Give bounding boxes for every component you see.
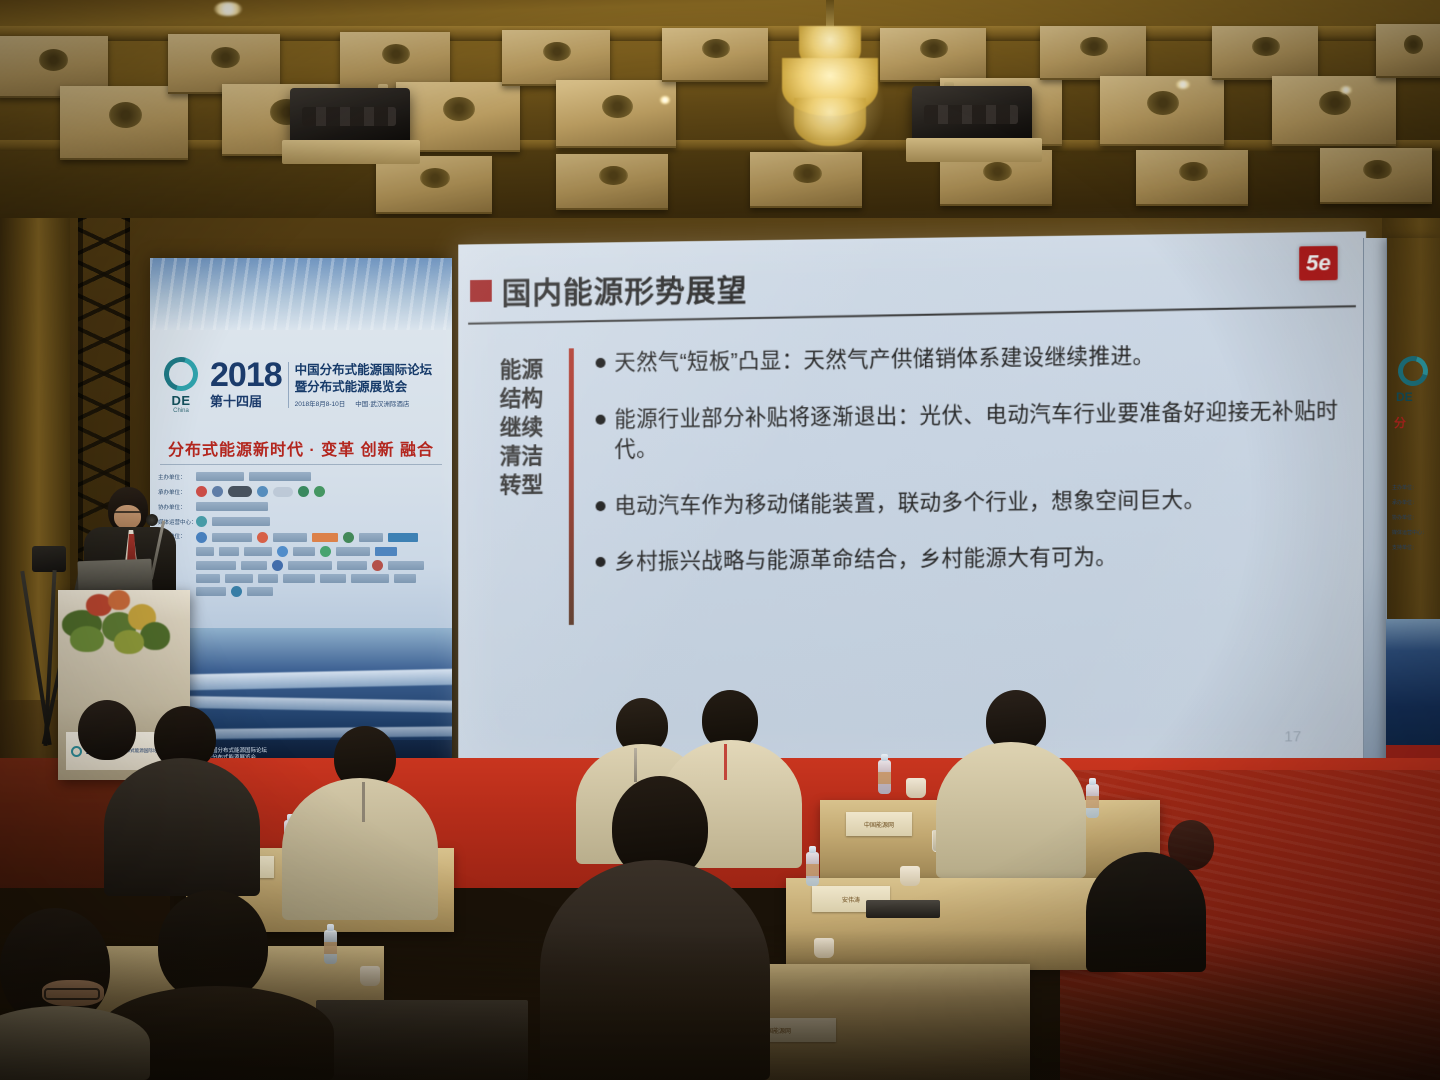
water-bottle: [324, 930, 337, 964]
ring-icon: [158, 351, 204, 397]
glasses-icon: [44, 988, 100, 1000]
side-label-line: 结构: [500, 383, 569, 413]
slide-vertical-divider: [569, 348, 574, 625]
sponsor-row: 支持单位：: [158, 532, 444, 597]
cup: [360, 966, 380, 986]
bullet-text: 电动汽车作为移动储能装置，联动多个行业，想象空间巨大。: [614, 484, 1205, 521]
attendee-body: [540, 860, 770, 1080]
bullet-dot-icon: [596, 358, 606, 368]
lanyard: [724, 744, 727, 780]
slide-page-number: 17: [1284, 728, 1301, 745]
slide-bullet-item: 电动汽车作为移动储能装置，联动多个行业，想象空间巨大。: [596, 483, 1340, 521]
side-label-line: 继续: [500, 412, 569, 442]
banner-footer-line1: 中国分布式能源国际论坛: [206, 748, 267, 755]
slide-bullet-item: 能源行业部分补贴将逐渐退出：光伏、电动汽车行业要准备好迎接无补贴时代。: [596, 395, 1340, 465]
bullet-text: 天然气“短板”凸显：天然气产供储销体系建设继续推进。: [614, 341, 1154, 378]
bullet-dot-icon: [596, 414, 606, 424]
sponsor-row-label: 承办单位：: [158, 488, 192, 496]
projector: [912, 86, 1032, 142]
sponsor-row-label: 主办单位：: [158, 473, 192, 481]
banner-divider: [160, 464, 442, 465]
banner-right-slogan: 分: [1394, 414, 1406, 431]
ceiling: [0, 0, 1440, 232]
sponsor-row-label: 主办单位：: [1392, 484, 1427, 491]
sponsor-row: 媒体运营中心：: [158, 516, 444, 527]
banner-date: 2018年8月8-10日: [295, 398, 346, 408]
sponsor-row-label: 承办单位：: [1392, 499, 1427, 506]
ceiling-light: [660, 96, 670, 104]
water-bottle: [806, 852, 819, 886]
bullet-dot-icon: [596, 557, 606, 567]
slide-side-label: 能源 结构 继续 清洁 转型: [458, 346, 569, 772]
microphone-icon: [146, 514, 158, 526]
sponsor-row-label: 协办单位：: [1392, 514, 1427, 521]
title-square-bullet-icon: [470, 280, 492, 302]
slide-body: 能源 结构 继续 清洁 转型 天然气“短板”凸显：天然气产供储销体系建设继续推进…: [458, 336, 1366, 773]
ring-icon: [1393, 351, 1434, 392]
laptop: [316, 1000, 528, 1080]
cup: [900, 866, 920, 886]
attendee-body: [282, 778, 438, 920]
attendee-body: [104, 758, 260, 896]
ceiling-light: [1340, 86, 1352, 94]
ceiling-light: [1176, 80, 1190, 89]
banner-title-line1: 中国分布式能源国际论坛: [295, 362, 433, 379]
event-banner-left: DE China 2018 第十四届 中国分布式能源国际论坛 暨分布式能源展览会…: [150, 258, 452, 770]
de-china-logo: DE China: [158, 357, 204, 414]
chandelier: [770, 0, 890, 175]
event-banner-right: DE 分 主办单位： 承办单位： 协办单位： 媒体运营中心： 支持单位：: [1386, 238, 1440, 773]
bullet-text: 乡村振兴战略与能源革命结合，乡村能源大有可为。: [614, 542, 1117, 577]
sponsor-row-label: 媒体运营中心：: [1392, 529, 1427, 536]
name-card-text: 安伟涛: [842, 895, 860, 904]
logo-de-text: DE: [158, 393, 204, 408]
side-label-line: 转型: [500, 470, 569, 500]
sponsor-row-label: 协办单位：: [158, 503, 192, 511]
banner-cityscape-graphic: [1386, 619, 1440, 745]
sponsor-row: 承办单位：: [158, 486, 444, 497]
attendee-body: [936, 742, 1086, 878]
5e-logo: 5e: [1299, 246, 1337, 281]
banner-slogan: 分布式能源新时代 · 变革 创新 融合: [160, 436, 442, 460]
slide-bullet-item: 天然气“短板”凸显：天然气产供储销体系建设继续推进。: [596, 338, 1340, 378]
slide-title: 国内能源形势展望: [502, 265, 748, 312]
banner-header: DE China 2018 第十四届 中国分布式能源国际论坛 暨分布式能源展览会…: [158, 332, 444, 438]
speaker-face: [114, 505, 141, 529]
slide-bullet-item: 乡村振兴战略与能源革命结合，乡村能源大有可为。: [596, 540, 1340, 578]
sponsor-logo-block: 主办单位： 承办单位： 协办单位：: [158, 472, 444, 630]
banner-edition: 第十四届: [210, 391, 282, 410]
glasses-icon: [114, 511, 142, 516]
banner-right-sponsor-labels: 主办单位： 承办单位： 协办单位： 媒体运营中心： 支持单位：: [1392, 484, 1427, 559]
bullet-text: 能源行业部分补贴将逐渐退出：光伏、电动汽车行业要准备好迎接无补贴时代。: [614, 395, 1339, 465]
sponsor-row: 主办单位：: [158, 472, 444, 481]
logo-de-sub: China: [158, 408, 204, 414]
flower-arrangement: [56, 586, 178, 658]
cup: [906, 778, 926, 798]
sponsor-row-label: 支持单位：: [1392, 544, 1427, 551]
lanyard: [634, 748, 637, 782]
banner-title-line2: 暨分布式能源展览会: [295, 379, 433, 396]
logo-de-text: DE: [1396, 390, 1413, 404]
conference-photo: DE China 2018 第十四届 中国分布式能源国际论坛 暨分布式能源展览会…: [0, 0, 1440, 1080]
banner-sky-graphic: [150, 258, 452, 330]
attendee-body: [1086, 852, 1206, 972]
sponsor-row: 协办单位：: [158, 502, 444, 511]
slide-title-row: 国内能源形势展望: [470, 256, 1348, 314]
laptop: [866, 900, 940, 918]
lanyard: [362, 782, 365, 822]
banner-venue: 中国·武汉洲际酒店: [355, 398, 409, 408]
side-label-line: 清洁: [500, 441, 569, 471]
bullet-dot-icon: [596, 501, 606, 511]
name-card-text: 中国能源网: [864, 820, 894, 829]
ceiling-light: [214, 2, 242, 16]
screen-frame-gap: [1363, 238, 1387, 773]
side-label-line: 能源: [500, 354, 569, 384]
projection-screen: 国内能源形势展望 5e 能源 结构 继续 清洁 转型 天然气“短板”凸显：天然气…: [458, 231, 1366, 773]
name-card: 中国能源网: [846, 812, 912, 836]
water-bottle: [878, 760, 891, 794]
banner-year: 2018: [210, 360, 282, 391]
cup: [814, 938, 834, 958]
projector: [290, 88, 410, 144]
water-bottle: [1086, 784, 1099, 818]
camera-icon: [32, 546, 66, 572]
